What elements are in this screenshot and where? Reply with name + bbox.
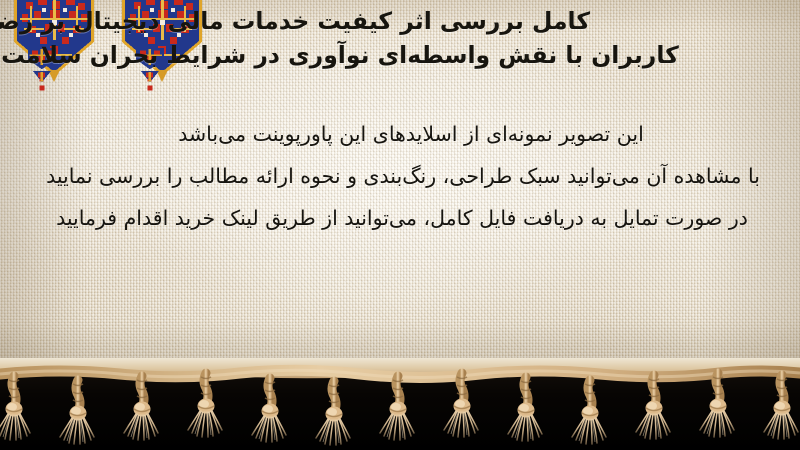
body-line-3: در صورت تمایل به دریافت فایل کامل، می‌تو… [0, 197, 800, 239]
body-line-2: با مشاهده آن می‌توانید سبک طراحی، رنگ‌بن… [0, 155, 800, 197]
slide-body: این تصویر نمونه‌ای از اسلایدهای این پاور… [0, 113, 800, 239]
title-line-1: کامل بررسی اثر کیفیت خدمات مالی دیجیتال … [0, 4, 800, 38]
title-line-2: کاربران با نقش واسطه‌ای نوآوری در شرایط … [0, 38, 800, 72]
slide-canvas: کامل بررسی اثر کیفیت خدمات مالی دیجیتال … [0, 0, 800, 450]
carpet-fringe-tassels [0, 340, 800, 450]
slide-text-layer: کامل بررسی اثر کیفیت خدمات مالی دیجیتال … [0, 0, 800, 378]
slide-title: کامل بررسی اثر کیفیت خدمات مالی دیجیتال … [0, 4, 800, 72]
body-line-1: این تصویر نمونه‌ای از اسلایدهای این پاور… [0, 113, 800, 155]
